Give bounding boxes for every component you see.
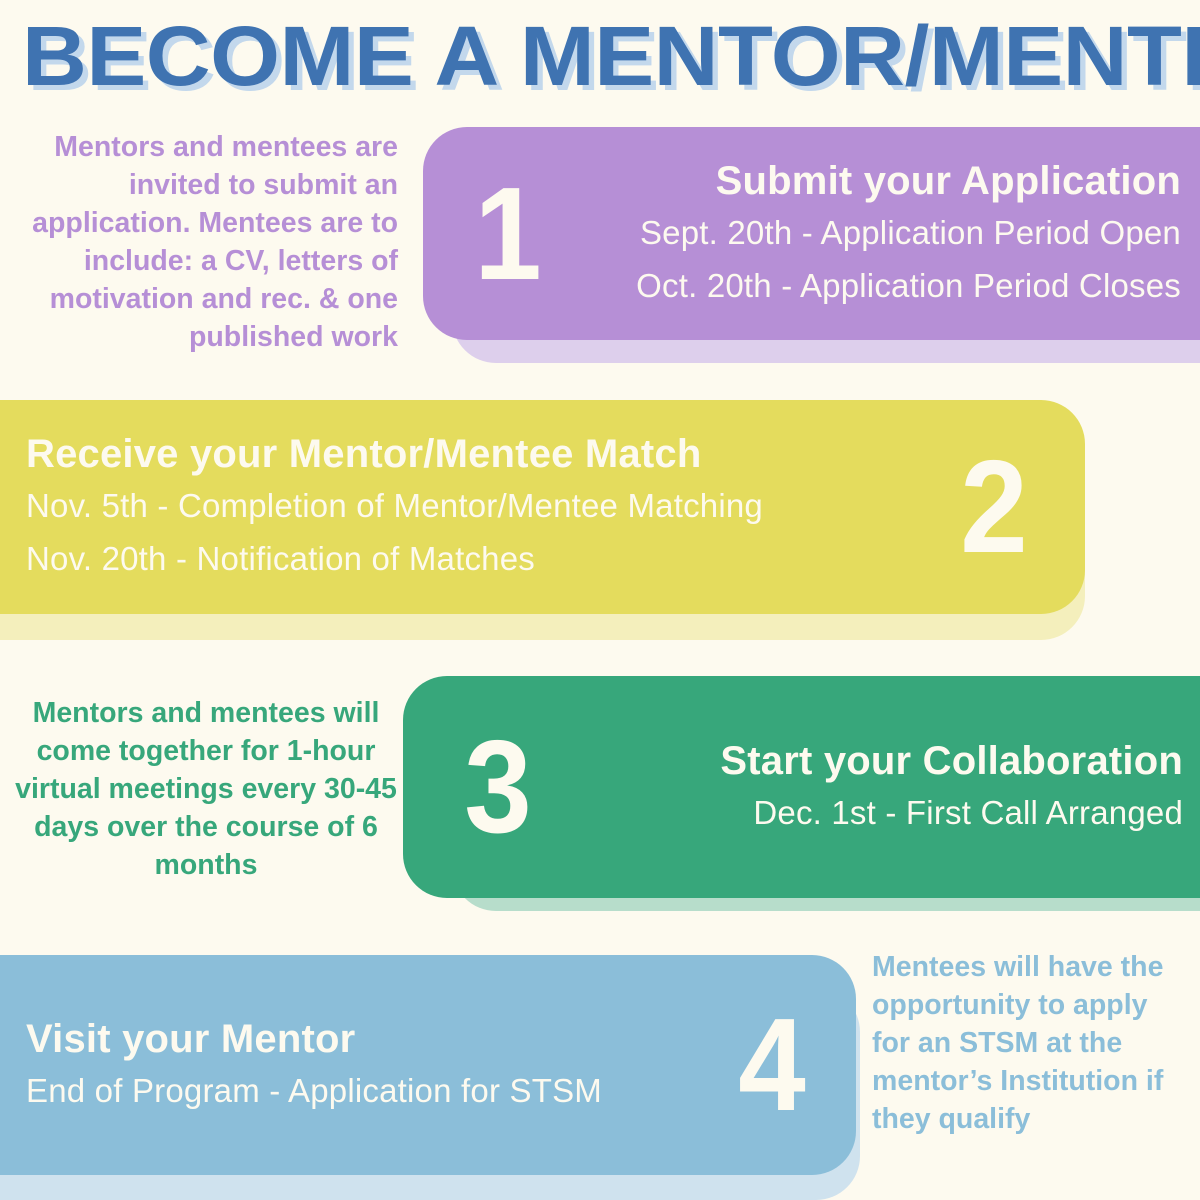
step-3-line-1: Dec. 1st - First Call Arranged [563, 786, 1183, 839]
page-title: BECOME A MENTOR/MENTEE [22, 8, 1200, 104]
step-3-card[interactable]: 3 Start your Collaboration Dec. 1st - Fi… [403, 676, 1200, 898]
step-1-heading: Submit your Application [563, 156, 1181, 206]
step-3-side-note: Mentors and mentees will come together f… [14, 694, 398, 884]
step-2-line-1: Nov. 5th - Completion of Mentor/Mentee M… [26, 479, 939, 532]
step-3-text-block: Start your Collaboration Dec. 1st - Firs… [563, 736, 1187, 839]
step-2-text-block: Receive your Mentor/Mentee Match Nov. 5t… [26, 429, 939, 585]
infographic-poster: BECOME A MENTOR/MENTEE 1 Submit your App… [0, 0, 1200, 1200]
step-2-number: 2 [943, 441, 1044, 573]
step-4-line-1: End of Program - Application for STSM [26, 1064, 706, 1117]
step-1-card[interactable]: 1 Submit your Application Sept. 20th - A… [423, 127, 1200, 340]
step-1-side-note: Mentors and mentees are invited to submi… [14, 128, 398, 356]
step-2-line-2: Nov. 20th - Notification of Matches [26, 532, 939, 585]
step-4-text-block: Visit your Mentor End of Program - Appli… [26, 1014, 706, 1117]
title-container: BECOME A MENTOR/MENTEE [0, 8, 1200, 108]
step-4-card[interactable]: Visit your Mentor End of Program - Appli… [0, 955, 856, 1175]
step-3-heading: Start your Collaboration [563, 736, 1183, 786]
step-4-side-note: Mentees will have the opportunity to app… [872, 948, 1190, 1138]
step-4-heading: Visit your Mentor [26, 1014, 706, 1064]
step-2-card[interactable]: Receive your Mentor/Mentee Match Nov. 5t… [0, 400, 1085, 614]
step-4-number: 4 [711, 999, 832, 1131]
step-1-text-block: Submit your Application Sept. 20th - App… [563, 156, 1185, 312]
step-2-heading: Receive your Mentor/Mentee Match [26, 429, 939, 479]
step-3-number: 3 [438, 721, 558, 853]
step-1-number: 1 [457, 168, 558, 300]
step-1-line-1: Sept. 20th - Application Period Open [563, 206, 1181, 259]
step-1-line-2: Oct. 20th - Application Period Closes [563, 259, 1181, 312]
